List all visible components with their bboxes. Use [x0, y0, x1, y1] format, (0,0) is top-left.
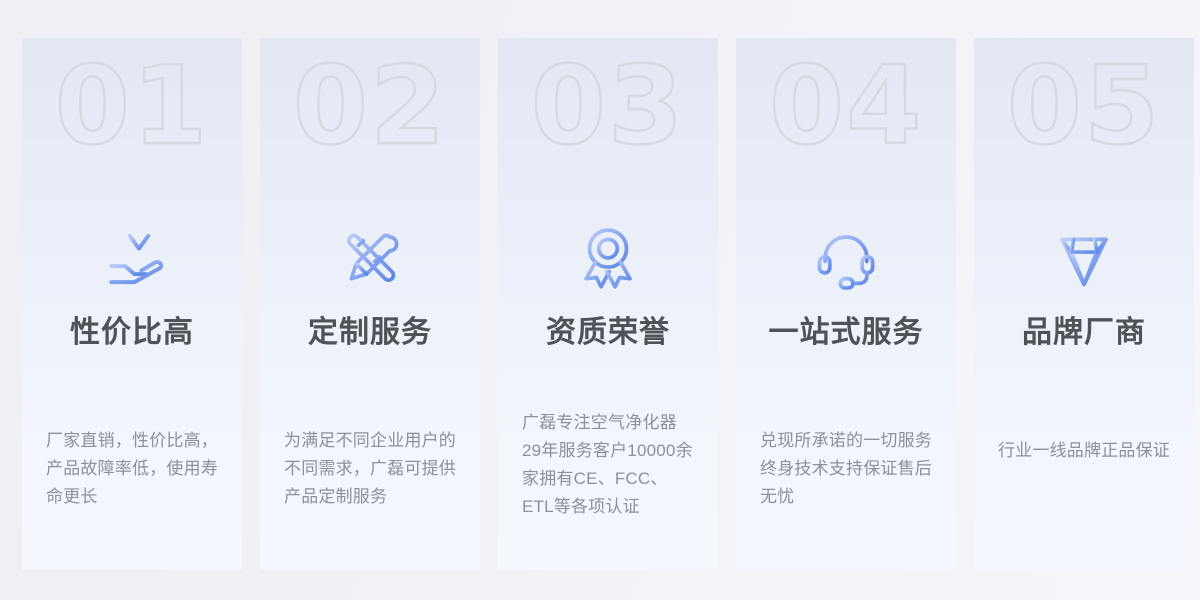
card-title: 性价比高: [22, 316, 242, 351]
headset-support-icon: [736, 220, 956, 298]
card-index-text: 02: [293, 51, 447, 169]
card-description-wrap: 广磊专注空气净化器29年服务客户10000余家拥有CE、FCC、ETL等各项认证: [498, 351, 718, 571]
card-description-wrap: 为满足不同企业用户的不同需求，广磊可提供产品定制服务: [260, 351, 480, 571]
feature-card[interactable]: 04 一站式: [736, 38, 956, 570]
card-index-number: 03: [498, 55, 718, 167]
card-index-number: 05: [974, 55, 1194, 167]
card-description-wrap: 行业一线品牌正品保证: [974, 351, 1194, 571]
card-index-text: 01: [55, 51, 209, 169]
card-index-text: 05: [1007, 51, 1161, 169]
card-description: 行业一线品牌正品保证: [998, 437, 1170, 465]
feature-card[interactable]: 03 资质荣誉: [498, 38, 718, 570]
feature-card[interactable]: 01: [22, 38, 242, 570]
card-title: 一站式服务: [736, 316, 956, 351]
card-description: 厂家直销，性价比高，产品故障率低，使用寿命更长: [46, 427, 218, 511]
card-title: 品牌厂商: [974, 316, 1194, 351]
card-index-number: 04: [736, 55, 956, 167]
card-description: 广磊专注空气净化器29年服务客户10000余家拥有CE、FCC、ETL等各项认证: [522, 409, 694, 521]
features-board: 01: [0, 0, 1200, 600]
card-index-text: 04: [769, 51, 923, 169]
diamond-icon: [974, 220, 1194, 298]
card-description-wrap: 厂家直销，性价比高，产品故障率低，使用寿命更长: [22, 351, 242, 571]
award-ribbon-icon: [498, 220, 718, 298]
feature-card[interactable]: 05: [974, 38, 1194, 570]
card-description-wrap: 兑现所承诺的一切服务终身技术支持保证售后无忧: [736, 351, 956, 571]
card-description: 兑现所承诺的一切服务终身技术支持保证售后无忧: [760, 427, 932, 511]
hand-holding-yuan-icon: [22, 220, 242, 298]
card-index-number: 01: [22, 55, 242, 167]
card-index-text: 03: [531, 51, 685, 169]
feature-card[interactable]: 02: [260, 38, 480, 570]
card-title: 资质荣誉: [498, 316, 718, 351]
pencil-ruler-cross-icon: [260, 220, 480, 298]
card-index-number: 02: [260, 55, 480, 167]
card-title: 定制服务: [260, 316, 480, 351]
card-description: 为满足不同企业用户的不同需求，广磊可提供产品定制服务: [284, 427, 456, 511]
